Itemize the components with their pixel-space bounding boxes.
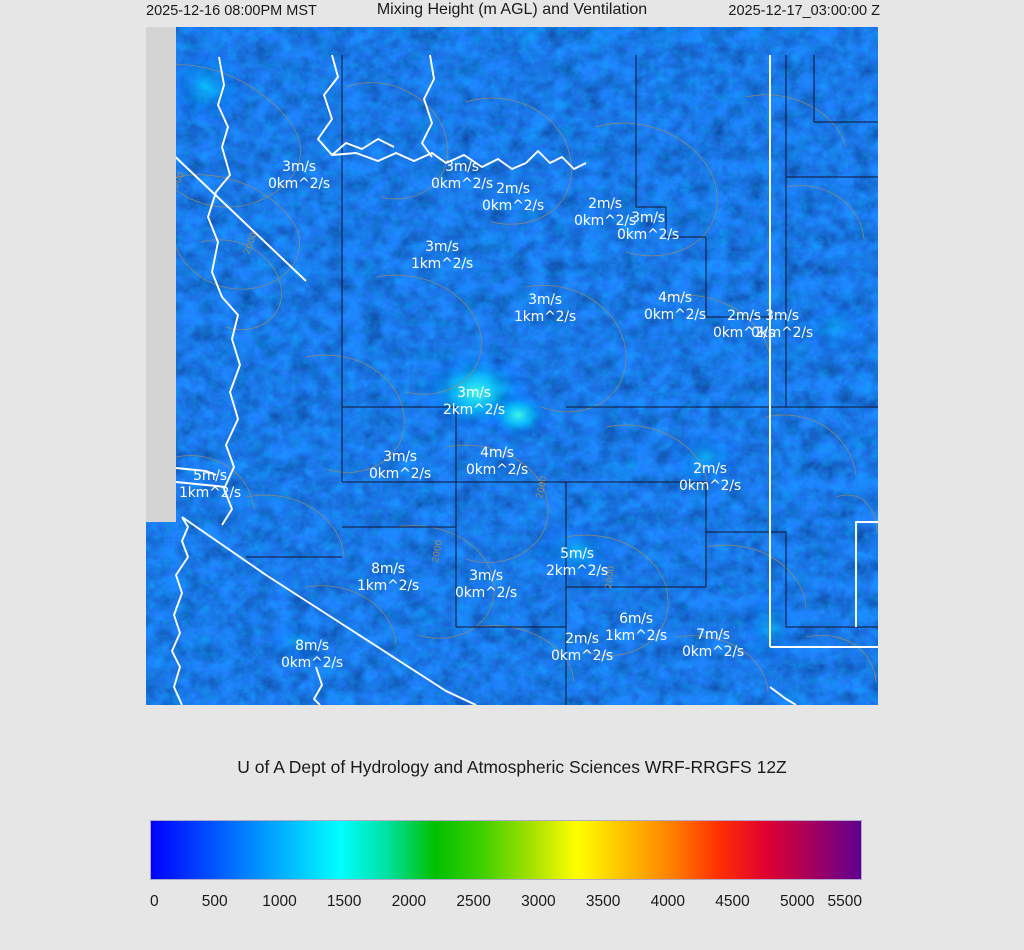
ventilation-value: 0km^2/s — [551, 648, 613, 665]
colorbar-tick: 4000 — [651, 893, 685, 911]
wind-ventilation-label: 3m/s0km^2/s — [455, 568, 517, 602]
ventilation-value: 2km^2/s — [546, 563, 608, 580]
wind-ventilation-label: 6m/s1km^2/s — [605, 611, 667, 645]
wind-speed-value: 8m/s — [357, 561, 419, 578]
colorbar-tick: 2500 — [456, 893, 490, 911]
wind-speed-value: 4m/s — [644, 290, 706, 307]
wind-speed-value: 3m/s — [617, 210, 679, 227]
wind-ventilation-label: 4m/s0km^2/s — [466, 445, 528, 479]
wind-speed-value: 3m/s — [455, 568, 517, 585]
colorbar-tick: 3500 — [586, 893, 620, 911]
wind-ventilation-label: 3m/s1km^2/s — [514, 292, 576, 326]
colorbar-container — [150, 820, 862, 880]
header-bar: 2025-12-16 08:00PM MST Mixing Height (m … — [0, 0, 1024, 24]
wind-ventilation-label: 2m/s0km^2/s — [551, 631, 613, 665]
colorbar-tick: 500 — [202, 893, 228, 911]
colorbar-tick: 5000 — [780, 893, 814, 911]
ventilation-value: 0km^2/s — [466, 462, 528, 479]
nodata-region-northwest — [146, 27, 167, 307]
wind-speed-value: 5m/s — [546, 546, 608, 563]
wind-ventilation-label: 5m/s1km^2/s — [179, 468, 241, 502]
colorbar-tick: 5500 — [828, 893, 862, 911]
wind-ventilation-label: 3m/s0km^2/s — [617, 210, 679, 244]
wind-ventilation-label: 3m/s0km^2/s — [369, 449, 431, 483]
colorbar-tick: 0 — [150, 893, 159, 911]
ventilation-value: 1km^2/s — [179, 485, 241, 502]
wind-speed-value: 7m/s — [682, 627, 744, 644]
colorbar-tick-labels: 0500100015002000250030003500400045005000… — [150, 893, 872, 915]
wind-speed-value: 3m/s — [268, 159, 330, 176]
wind-ventilation-label: 8m/s0km^2/s — [281, 638, 343, 672]
colorbar-tick: 2000 — [392, 893, 426, 911]
wind-speed-value: 2m/s — [482, 181, 544, 198]
ventilation-value: 1km^2/s — [514, 309, 576, 326]
wind-speed-value: 3m/s — [431, 159, 493, 176]
ventilation-value: 1km^2/s — [605, 628, 667, 645]
ventilation-value: 0km^2/s — [617, 227, 679, 244]
attribution-text: U of A Dept of Hydrology and Atmospheric… — [0, 757, 1024, 778]
ventilation-value: 0km^2/s — [268, 176, 330, 193]
wind-ventilation-label: 5m/s2km^2/s — [546, 546, 608, 580]
ventilation-value: 0km^2/s — [682, 644, 744, 661]
wind-speed-value: 5m/s — [179, 468, 241, 485]
ventilation-value: 0km^2/s — [369, 466, 431, 483]
wind-speed-value: 8m/s — [281, 638, 343, 655]
mixing-height-raster: 1000 2000 2000 2000 2000 — [146, 27, 878, 705]
wind-speed-value: 3m/s — [369, 449, 431, 466]
wind-ventilation-label: 3m/s0km^2/s — [751, 308, 813, 342]
wind-speed-value: 3m/s — [751, 308, 813, 325]
wind-speed-value: 2m/s — [679, 461, 741, 478]
colorbar-tick: 1500 — [327, 893, 361, 911]
ventilation-value: 0km^2/s — [644, 307, 706, 324]
wind-ventilation-label: 3m/s2km^2/s — [443, 385, 505, 419]
ventilation-value: 1km^2/s — [411, 256, 473, 273]
wind-ventilation-label: 7m/s0km^2/s — [682, 627, 744, 661]
wind-speed-value: 3m/s — [514, 292, 576, 309]
wind-speed-value: 3m/s — [411, 239, 473, 256]
wind-ventilation-label: 2m/s0km^2/s — [679, 461, 741, 495]
colorbar-tick: 1000 — [262, 893, 296, 911]
colorbar-tick: 3000 — [521, 893, 555, 911]
colorbar-tick: 4500 — [715, 893, 749, 911]
wind-ventilation-label: 2m/s0km^2/s — [482, 181, 544, 215]
valid-time-label: 2025-12-17_03:00:00 Z — [728, 1, 880, 21]
ventilation-value: 2km^2/s — [443, 402, 505, 419]
wind-ventilation-label: 4m/s0km^2/s — [644, 290, 706, 324]
ventilation-value: 0km^2/s — [482, 198, 544, 215]
wind-ventilation-label: 3m/s1km^2/s — [411, 239, 473, 273]
ventilation-value: 0km^2/s — [679, 478, 741, 495]
map-figure[interactable]: 1000 2000 2000 2000 2000 3m/s0km^2/s3m/s… — [146, 27, 878, 705]
ventilation-value: 0km^2/s — [455, 585, 517, 602]
ventilation-value: 0km^2/s — [281, 655, 343, 672]
colorbar-gradient — [150, 820, 862, 880]
wind-ventilation-label: 3m/s0km^2/s — [268, 159, 330, 193]
wind-ventilation-label: 8m/s1km^2/s — [357, 561, 419, 595]
wind-speed-value: 3m/s — [443, 385, 505, 402]
wind-speed-value: 6m/s — [605, 611, 667, 628]
wind-speed-value: 2m/s — [551, 631, 613, 648]
wind-speed-value: 4m/s — [466, 445, 528, 462]
ventilation-value: 0km^2/s — [751, 325, 813, 342]
ventilation-value: 1km^2/s — [357, 578, 419, 595]
